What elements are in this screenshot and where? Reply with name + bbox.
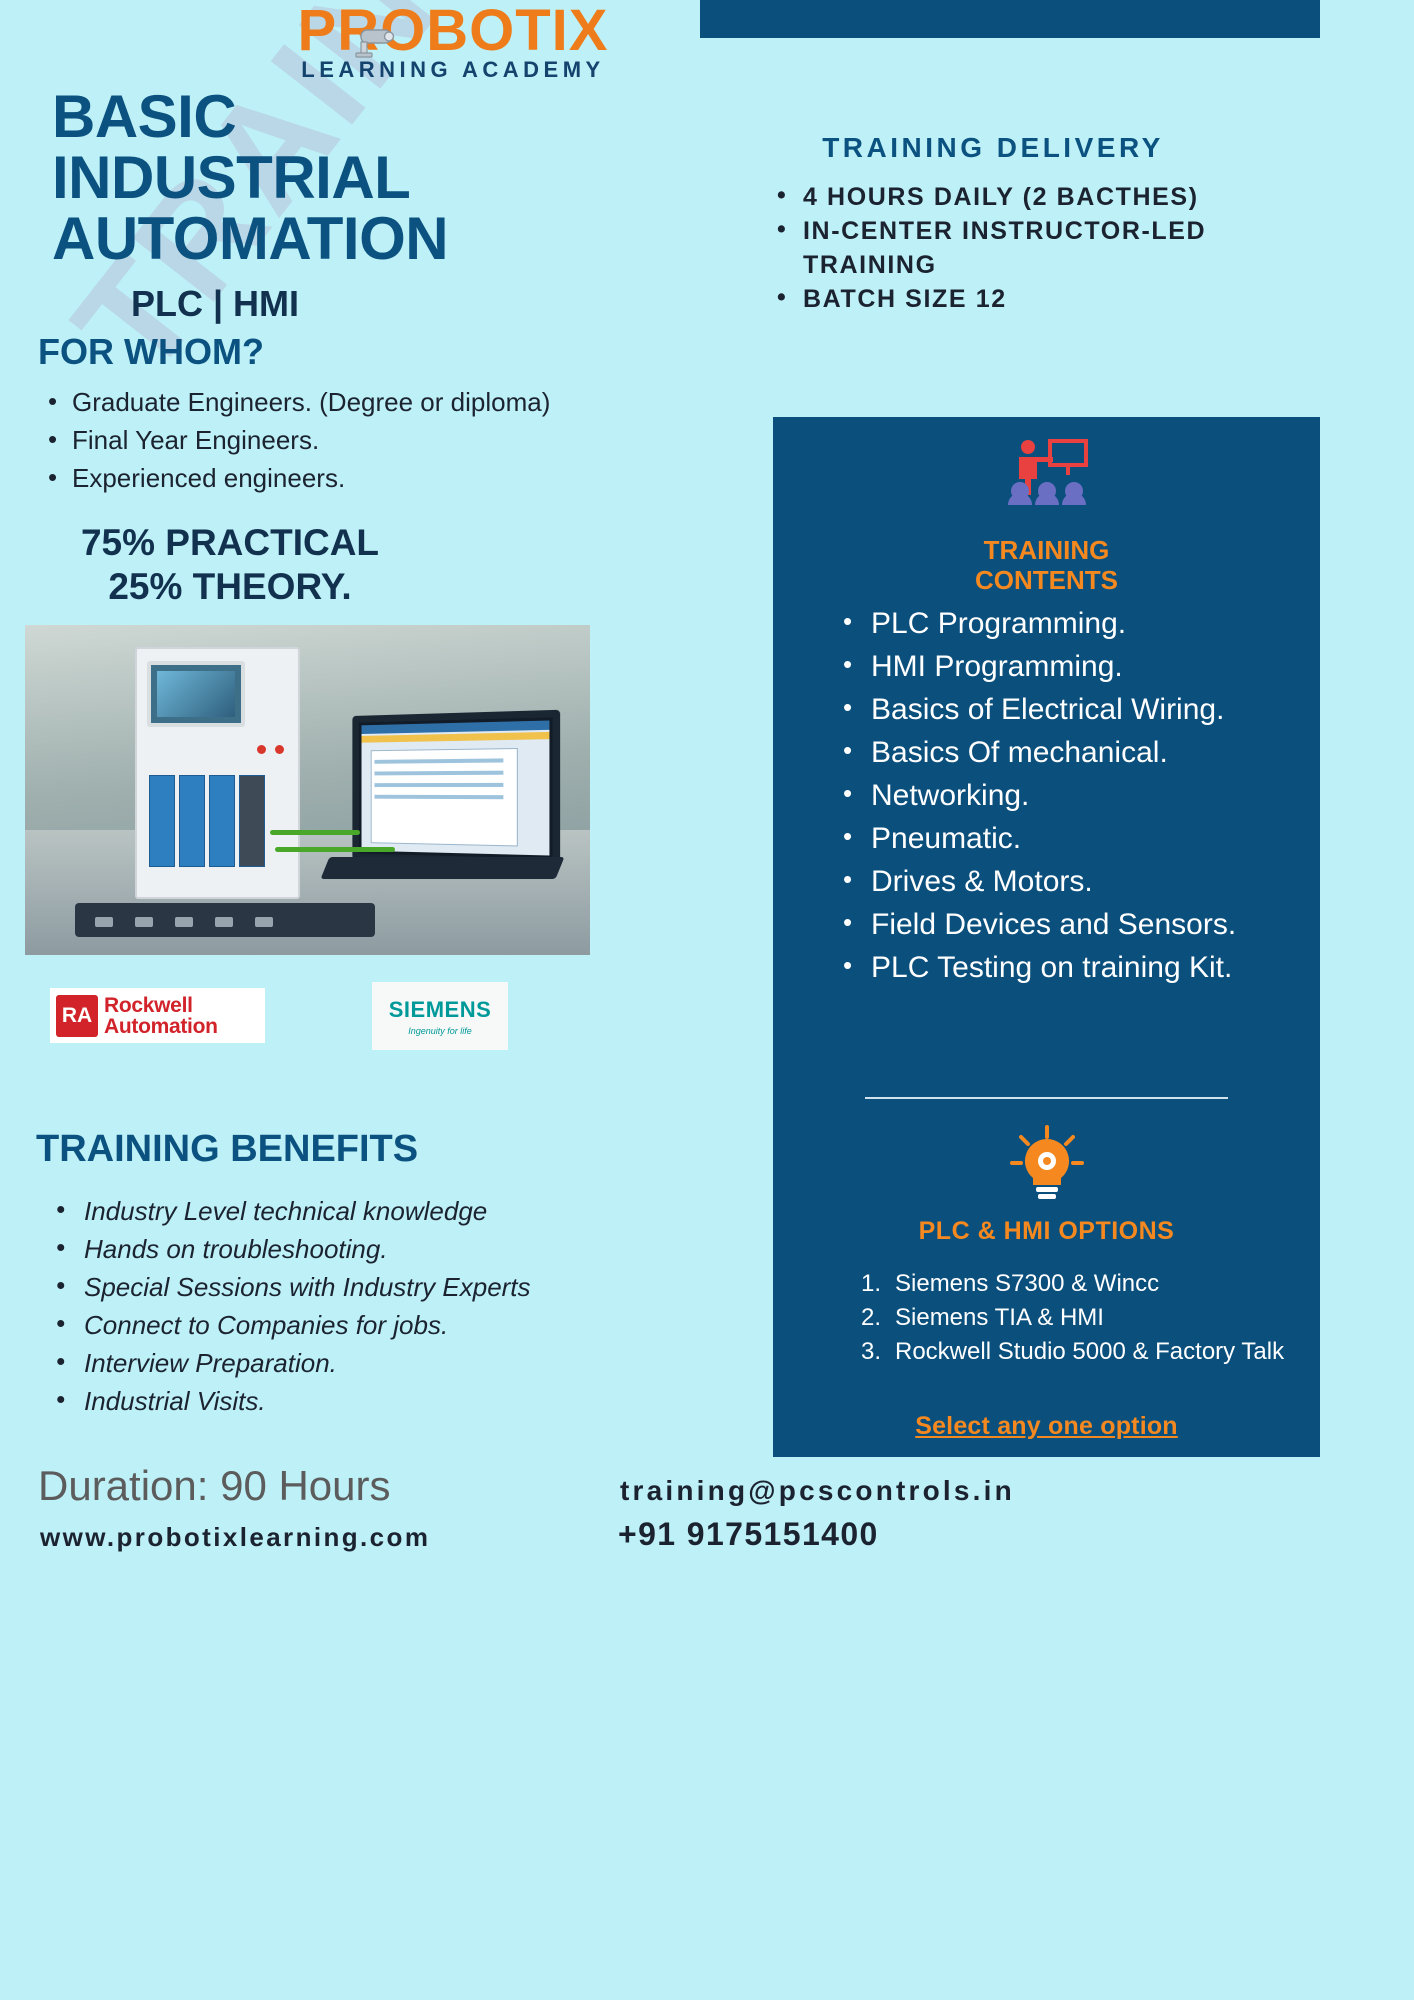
- list-item: Industrial Visits.: [44, 1382, 644, 1420]
- for-whom-heading: FOR WHOM?: [0, 331, 640, 373]
- partner-logo-rockwell: RA Rockwell Automation: [50, 988, 265, 1043]
- practical-line-2: 25% THEORY.: [0, 565, 460, 609]
- list-item: Graduate Engineers. (Degree or diploma): [44, 383, 640, 421]
- list-item: Basics of Electrical Wiring.: [839, 688, 1296, 731]
- website-url[interactable]: www.probotixlearning.com: [40, 1522, 430, 1553]
- list-item: HMI Programming.: [839, 645, 1296, 688]
- title-line-1: BASIC: [52, 86, 640, 147]
- poster-root: TRAINING PROBOTIX LEARNING ACADEMY BASIC…: [0, 0, 1414, 2000]
- contact-phone[interactable]: +91 9175151400: [618, 1516, 879, 1553]
- laptop-screen: [352, 710, 560, 866]
- siemens-name: SIEMENS: [389, 997, 492, 1023]
- list-item: Networking.: [839, 774, 1296, 817]
- list-item: Hands on troubleshooting.: [44, 1230, 644, 1268]
- list-item: 4 HOURS DAILY (2 BACTHES): [775, 180, 1335, 214]
- terminal-block: [215, 917, 233, 927]
- list-item: Pneumatic.: [839, 817, 1296, 860]
- list-item: Industry Level technical knowledge: [44, 1192, 644, 1230]
- title-line-2: INDUSTRIAL: [52, 147, 640, 208]
- list-item: Basics Of mechanical.: [839, 731, 1296, 774]
- list-item: Field Devices and Sensors.: [839, 903, 1296, 946]
- list-item: Special Sessions with Industry Experts: [44, 1268, 644, 1306]
- hmi-screen: [147, 661, 245, 727]
- for-whom-list: Graduate Engineers. (Degree or diploma) …: [0, 383, 640, 497]
- plc-hmi-options-list: Siemens S7300 & Wincc Siemens TIA & HMI …: [861, 1267, 1290, 1369]
- terminal-block: [135, 917, 153, 927]
- software-ui: [362, 720, 550, 855]
- rockwell-line-2: Automation: [104, 1016, 218, 1037]
- training-kit-photo: [25, 625, 590, 955]
- indicator-led: [275, 745, 284, 754]
- rockwell-badge: RA: [56, 995, 98, 1037]
- practical-line-1: 75% PRACTICAL: [0, 521, 460, 565]
- terminal-block: [175, 917, 193, 927]
- training-benefits-heading: TRAINING BENEFITS: [36, 1128, 418, 1171]
- practical-theory-ratio: 75% PRACTICAL 25% THEORY.: [0, 521, 640, 609]
- list-item: Rockwell Studio 5000 & Factory Talk: [861, 1335, 1290, 1369]
- list-item: Final Year Engineers.: [44, 421, 640, 459]
- logo-wordmark: PROBOTIX: [298, 2, 609, 60]
- list-item: Connect to Companies for jobs.: [44, 1306, 644, 1344]
- brand-logo: PROBOTIX LEARNING ACADEMY: [283, 2, 623, 84]
- laptop-base: [321, 857, 565, 879]
- plc-module: [179, 775, 205, 867]
- list-item: Experienced engineers.: [44, 459, 640, 497]
- list-item: BATCH SIZE 12: [775, 282, 1335, 316]
- ui-row: [374, 795, 503, 799]
- page-title: BASIC INDUSTRIAL AUTOMATION: [0, 78, 640, 269]
- contents-heading-line-1: TRAINING: [773, 535, 1320, 565]
- ethernet-cable: [270, 830, 360, 835]
- ui-row: [374, 771, 503, 776]
- partner-logo-siemens: SIEMENS Ingenuity for life: [372, 982, 508, 1050]
- course-subtitle: PLC | HMI: [0, 283, 640, 325]
- plc-module: [149, 775, 175, 867]
- siemens-tagline: Ingenuity for life: [408, 1026, 472, 1036]
- list-item: PLC Programming.: [839, 602, 1296, 645]
- course-duration: Duration: 90 Hours: [38, 1462, 391, 1510]
- section-divider: [865, 1097, 1228, 1099]
- list-item: Siemens TIA & HMI: [861, 1301, 1290, 1335]
- lightbulb-gear-icon: [1009, 1125, 1085, 1203]
- plc-module: [239, 775, 265, 867]
- contact-email[interactable]: training@pcscontrols.in: [620, 1475, 1015, 1507]
- training-contents-panel: TRAINING CONTENTS PLC Programming. HMI P…: [773, 417, 1320, 1457]
- robot-arm-icon: [345, 28, 397, 58]
- training-benefits-list: Industry Level technical knowledge Hands…: [44, 1192, 644, 1420]
- training-contents-heading: TRAINING CONTENTS: [773, 535, 1320, 595]
- training-contents-list: PLC Programming. HMI Programming. Basics…: [839, 602, 1296, 989]
- list-item: Drives & Motors.: [839, 860, 1296, 903]
- plc-module: [209, 775, 235, 867]
- contents-heading-line-2: CONTENTS: [773, 565, 1320, 595]
- terminal-block: [95, 917, 113, 927]
- training-delivery-heading: TRAINING DELIVERY: [773, 132, 1213, 164]
- list-item: Interview Preparation.: [44, 1344, 644, 1382]
- title-line-3: AUTOMATION: [52, 208, 640, 269]
- header-accent-bar: [700, 0, 1320, 38]
- select-option-note: Select any one option: [773, 1412, 1320, 1441]
- rockwell-line-1: Rockwell: [104, 995, 218, 1016]
- ethernet-cable: [275, 847, 395, 852]
- plc-hmi-options-heading: PLC & HMI OPTIONS: [773, 1217, 1320, 1246]
- training-delivery-list: 4 HOURS DAILY (2 BACTHES) IN-CENTER INST…: [775, 180, 1335, 316]
- ui-row: [374, 783, 503, 787]
- left-column: BASIC INDUSTRIAL AUTOMATION PLC | HMI FO…: [0, 78, 640, 609]
- indicator-led: [257, 745, 266, 754]
- list-item: Siemens S7300 & Wincc: [861, 1267, 1290, 1301]
- terminal-block: [255, 917, 273, 927]
- list-item: PLC Testing on training Kit.: [839, 946, 1296, 989]
- presenter-with-audience-icon: [1002, 435, 1092, 527]
- ui-toolbar: [362, 732, 550, 743]
- list-item: IN-CENTER INSTRUCTOR-LED TRAINING: [775, 214, 1335, 282]
- rockwell-name: Rockwell Automation: [104, 995, 218, 1037]
